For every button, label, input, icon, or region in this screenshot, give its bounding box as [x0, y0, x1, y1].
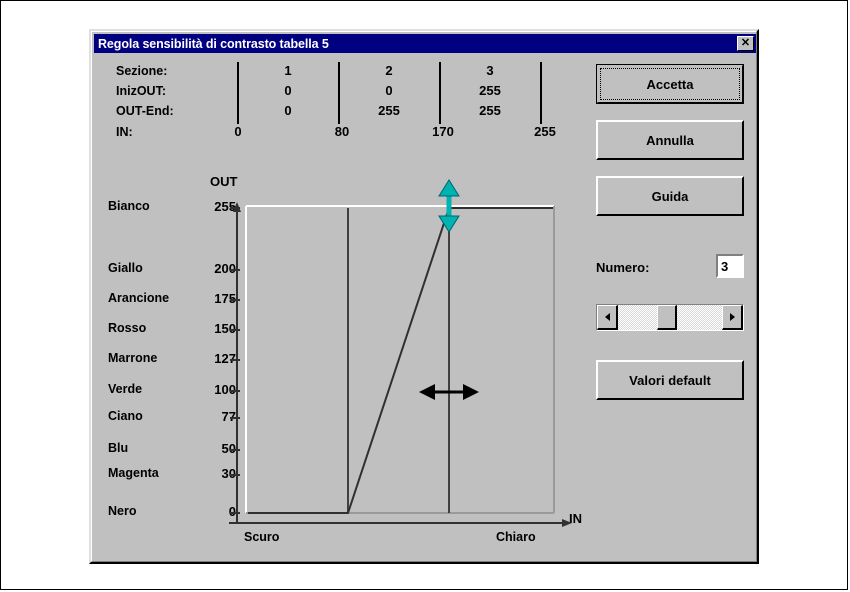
numero-scrollbar[interactable] — [596, 304, 744, 331]
y-tick-name-nero: Nero — [108, 504, 136, 518]
table-row-label-sezione: Sezione: — [116, 64, 167, 78]
y-tick-name-blu: Blu — [108, 441, 128, 455]
cell-sezione-2: 2 — [385, 63, 392, 78]
table-separator-170 — [439, 62, 441, 124]
y-tick-name-magenta: Magenta — [108, 466, 159, 480]
numero-label: Numero: — [596, 260, 649, 275]
y-tick-name-arancione: Arancione — [108, 291, 169, 305]
dialog-inner-bevel: Regola sensibilità di contrasto tabella … — [91, 31, 757, 562]
cell-inizout-3: 255 — [479, 83, 501, 98]
y-tick-value-magenta: 30 — [196, 466, 236, 481]
in-tick-170: 170 — [432, 124, 454, 139]
default-values-button[interactable]: Valori default — [596, 360, 744, 400]
x-axis-right-label: Chiaro — [496, 530, 536, 544]
cancel-button-label: Annulla — [646, 133, 694, 148]
in-tick-80: 80 — [335, 124, 349, 139]
accept-button[interactable]: Accetta — [596, 64, 744, 104]
y-tick-name-ciano: Ciano — [108, 409, 143, 423]
y-tick-value-giallo: 200 — [196, 261, 236, 276]
cell-sezione-3: 3 — [486, 63, 493, 78]
y-tick-value-verde: 100 — [196, 382, 236, 397]
cancel-button[interactable]: Annulla — [596, 120, 744, 160]
in-tick-255: 255 — [534, 124, 556, 139]
y-tick-value-arancione: 175 — [196, 291, 236, 306]
y-tick-name-giallo: Giallo — [108, 261, 143, 275]
x-axis-left-label: Scuro — [244, 530, 279, 544]
close-button[interactable]: ✕ — [737, 36, 754, 51]
section-table: Sezione: InizOUT: OUT-End: IN: 1 2 3 0 0… — [92, 60, 592, 155]
title-bar[interactable]: Regola sensibilità di contrasto tabella … — [94, 34, 756, 53]
vertical-drag-arrow-icon[interactable] — [439, 180, 459, 232]
y-tick-name-verde: Verde — [108, 382, 142, 396]
y-tick-value-rosso: 150 — [196, 321, 236, 336]
y-tick-value-bianco: 255 — [196, 199, 236, 214]
y-tick-value-marrone: 127 — [196, 351, 236, 366]
y-tick-name-marrone: Marrone — [108, 351, 157, 365]
dialog-window: Regola sensibilità di contrasto tabella … — [89, 29, 759, 564]
page-frame: Regola sensibilità di contrasto tabella … — [0, 0, 848, 590]
in-tick-0: 0 — [234, 124, 241, 139]
cell-outend-1: 0 — [284, 103, 291, 118]
y-tick-value-nero: 0 — [196, 504, 236, 519]
x-axis-title: IN — [569, 511, 582, 526]
cell-outend-2: 255 — [378, 103, 400, 118]
y-axis-title: OUT — [210, 174, 237, 189]
y-tick-value-blu: 50 — [196, 441, 236, 456]
table-row-label-in: IN: — [116, 125, 133, 139]
y-tick-name-rosso: Rosso — [108, 321, 146, 335]
close-icon: ✕ — [741, 38, 750, 49]
triangle-left-icon — [605, 313, 610, 321]
window-title: Regola sensibilità di contrasto tabella … — [98, 37, 737, 51]
table-separator-80 — [338, 62, 340, 124]
scrollbar-right-arrow-icon[interactable] — [722, 305, 743, 330]
plot-bevel-light — [246, 206, 554, 513]
focus-indicator — [600, 68, 740, 100]
cell-inizout-2: 0 — [385, 83, 392, 98]
transfer-curve-line[interactable] — [248, 208, 553, 513]
table-separator-255 — [540, 62, 542, 124]
numero-input[interactable]: 3 — [716, 254, 744, 278]
default-values-button-label: Valori default — [629, 373, 711, 388]
plot-area — [246, 206, 554, 513]
table-row-label-outend: OUT-End: — [116, 104, 174, 118]
cell-outend-3: 255 — [479, 103, 501, 118]
table-row-label-inizout: InizOUT: — [116, 84, 166, 98]
triangle-right-icon — [730, 313, 735, 321]
horizontal-drag-arrow-icon[interactable] — [419, 384, 479, 400]
y-tick-value-ciano: 77 — [196, 409, 236, 424]
table-separator-0 — [237, 62, 239, 124]
help-button[interactable]: Guida — [596, 176, 744, 216]
help-button-label: Guida — [652, 189, 689, 204]
cell-sezione-1: 1 — [284, 63, 291, 78]
y-tick-name-bianco: Bianco — [108, 199, 150, 213]
scrollbar-left-arrow-icon[interactable] — [597, 305, 618, 330]
plot-bevel-dark — [246, 206, 554, 513]
cell-inizout-1: 0 — [284, 83, 291, 98]
scrollbar-thumb[interactable] — [657, 305, 677, 330]
